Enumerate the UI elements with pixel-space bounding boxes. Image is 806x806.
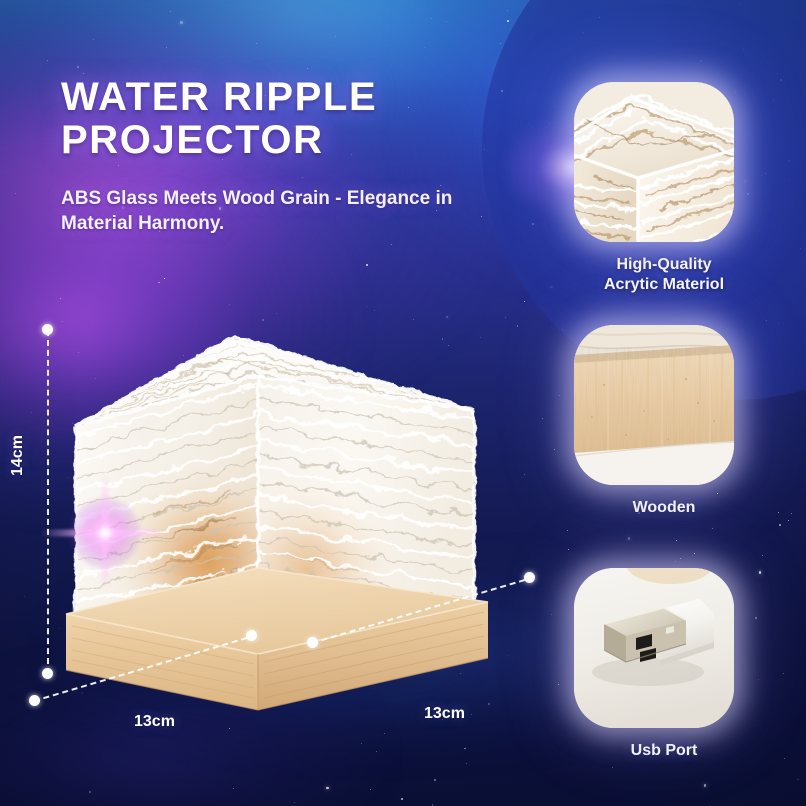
feature-acrylic-label: High-Quality Acrytic Materiol <box>574 255 754 294</box>
width-dot-right <box>524 572 535 583</box>
title-line-1: WATER RIPPLE <box>61 76 491 119</box>
width-label: 13cm <box>424 705 465 723</box>
feature-wooden[interactable]: Wooden <box>574 325 754 518</box>
sparkle-glow <box>40 468 170 598</box>
usb-closeup-illustration <box>574 568 734 728</box>
height-dashed-line <box>47 330 49 674</box>
feature-acrylic[interactable]: High-Quality Acrytic Materiol <box>574 82 754 294</box>
depth-dot-left <box>29 695 40 706</box>
title-line-2: PROJECTOR <box>61 119 491 162</box>
width-dot-left <box>307 637 318 648</box>
depth-dot-right <box>246 630 257 641</box>
depth-label: 13cm <box>134 713 175 731</box>
page-title: WATER RIPPLE PROJECTOR <box>61 76 491 162</box>
feature-wooden-label: Wooden <box>574 498 754 518</box>
height-dot-bottom <box>42 668 53 679</box>
wood-closeup-illustration <box>574 325 734 485</box>
feature-usb-image[interactable] <box>574 568 734 728</box>
feature-wooden-image[interactable] <box>574 325 734 485</box>
height-dot-top <box>42 324 53 335</box>
height-label: 14cm <box>9 435 27 476</box>
product-infographic: WATER RIPPLE PROJECTOR ABS Glass Meets W… <box>0 0 806 806</box>
product-image <box>58 318 518 718</box>
acrylic-closeup-illustration <box>574 82 734 242</box>
feature-acrylic-image[interactable] <box>574 82 734 242</box>
feature-usb[interactable]: Usb Port <box>574 568 754 761</box>
feature-usb-label: Usb Port <box>574 741 754 761</box>
page-subtitle: ABS Glass Meets Wood Grain - Elegance in… <box>61 186 461 236</box>
